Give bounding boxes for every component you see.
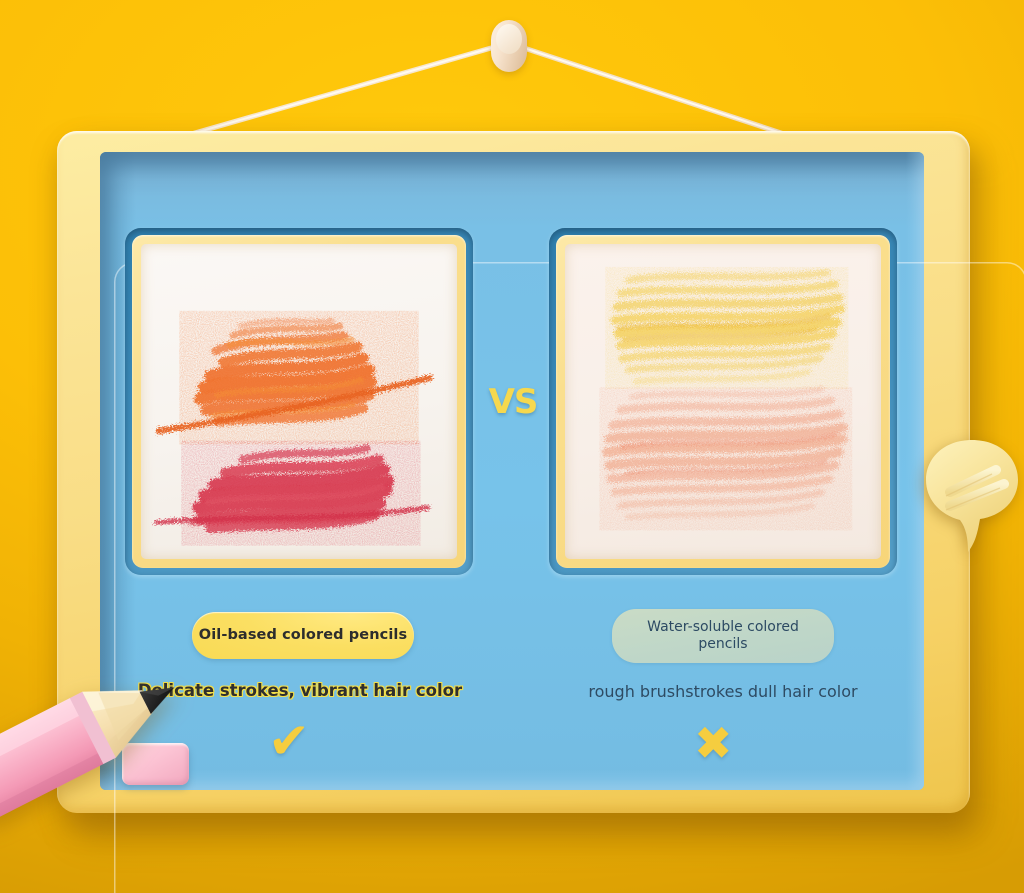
- sample-card-left[interactable]: [125, 228, 473, 575]
- badge-oil-based[interactable]: Oil-based colored pencils: [192, 612, 414, 659]
- versus-label: VS: [477, 382, 549, 422]
- swatch-oil-based: [141, 244, 457, 559]
- cross-icon: ✖: [694, 720, 733, 766]
- hanging-knob: [491, 20, 527, 72]
- sample-card-right[interactable]: [549, 228, 897, 575]
- check-icon: ✔: [268, 716, 310, 766]
- speech-bubble-icon[interactable]: [922, 434, 1022, 559]
- sample-paper-left: [141, 244, 457, 559]
- panel-bevel-bottom: [100, 770, 924, 790]
- poster-root: VS Oil-based colored pencils Water-solub…: [0, 0, 1024, 893]
- panel-bevel-top: [100, 152, 924, 196]
- caption-right: rough brushstrokes dull hair color: [543, 682, 903, 701]
- sample-card-right-mat: [556, 235, 890, 568]
- badge-water-soluble[interactable]: Water-soluble colored pencils: [612, 609, 834, 663]
- sample-card-left-mat: [132, 235, 466, 568]
- sample-paper-right: [565, 244, 881, 559]
- swatch-water-soluble: [565, 244, 881, 559]
